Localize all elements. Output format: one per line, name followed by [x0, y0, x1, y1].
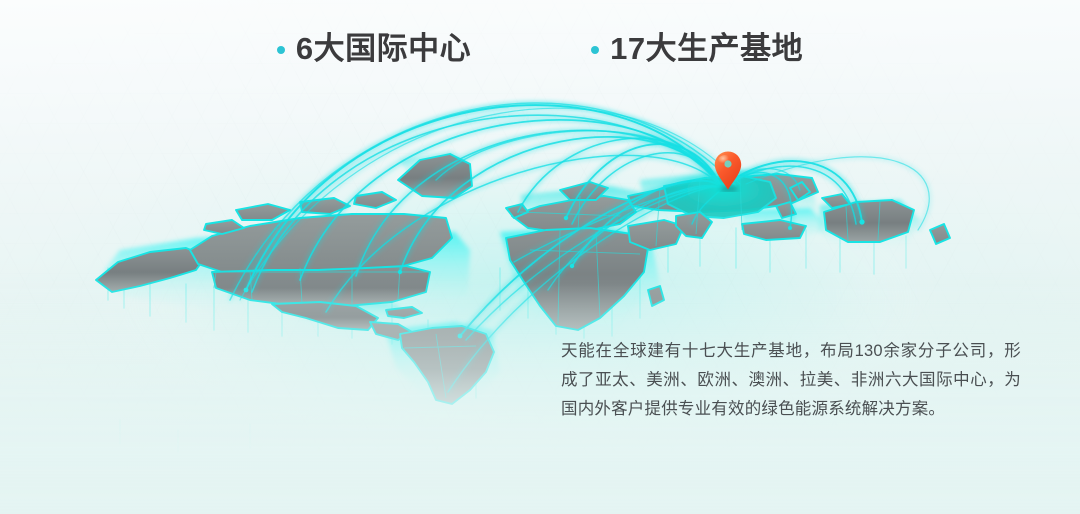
landmass-middle-east: [628, 220, 684, 250]
hexagon-texture: [0, 0, 1080, 514]
network-nodes: [244, 216, 865, 339]
arc-china-to-midwest: [356, 130, 722, 276]
landmass-arctic-isles-2: [300, 198, 350, 214]
infographic-slide: 6大国际中心 17大生产基地 天能在全球建有十七大生产基地，布局130余家分子公…: [0, 0, 1080, 514]
landmass-australia: [824, 200, 914, 242]
arc-china-to-east-usa: [400, 137, 722, 272]
landmass-arctic-isles-1: [236, 204, 290, 220]
heading-production-bases: 17大生产基地: [591, 33, 803, 64]
landmass-scandinavia: [560, 182, 608, 200]
landmass-greenland: [398, 154, 472, 198]
arc-china-to-canada: [300, 120, 722, 280]
arc-china-to-mexico: [326, 155, 722, 312]
arc-china-to-brazil-2: [466, 186, 722, 340]
arc-china-to-usa-2: [252, 115, 722, 292]
bullet-dot-icon: [591, 46, 599, 54]
arc-china-to-africa: [572, 180, 722, 266]
landmass-madagascar: [648, 286, 664, 306]
landmass-south-america: [400, 326, 494, 404]
arc-china-to-australia: [722, 161, 862, 222]
landmass-europe: [512, 196, 636, 232]
landmass-usa: [212, 266, 430, 306]
landmass-indonesia: [742, 220, 806, 240]
arc-china-to-west-africa: [514, 187, 722, 262]
landmass-alaska: [96, 248, 206, 292]
arc-china-to-europe: [566, 144, 722, 218]
landmass-png: [822, 194, 850, 208]
arc-china-to-brazil: [460, 181, 722, 336]
landmass-india: [676, 212, 712, 238]
hub-glow: [677, 170, 769, 210]
description-text: 天能在全球建有十七大生产基地，布局130余家分子公司，形成了亚太、美洲、欧洲、澳…: [561, 337, 1021, 424]
arc-china-to-usa: [246, 105, 722, 290]
heading-label: 6大国际中心: [296, 33, 471, 64]
landmass-central-america: [370, 322, 412, 340]
landmass-arctic-isles-3: [204, 220, 244, 234]
landmass-caribbean: [386, 307, 422, 318]
arc-china-to-greenland: [436, 131, 722, 188]
arc-china-to-africa-2: [548, 186, 722, 290]
world-map: [0, 0, 1080, 514]
arc-china-to-uk: [518, 138, 722, 212]
location-pin-icon: [713, 150, 743, 192]
world-map-svg: [0, 0, 1080, 514]
arc-china-to-japan: [722, 169, 800, 190]
arc-china-to-indonesia: [722, 173, 792, 228]
description-block: 天能在全球建有十七大生产基地，布局130余家分子公司，形成了亚太、美洲、欧洲、澳…: [561, 337, 1021, 424]
landmass-mexico: [272, 302, 378, 330]
headings-row: 6大国际中心 17大生产基地: [0, 22, 1080, 74]
arc-china-to-australia-2: [722, 166, 856, 224]
landmass-uk: [506, 204, 528, 218]
arc-china-to-india: [692, 188, 722, 224]
arc-china-to-europe-2: [572, 153, 722, 224]
landmass-canada: [190, 214, 452, 276]
landmass-new-zealand: [930, 224, 950, 244]
bullet-dot-icon: [277, 46, 285, 54]
arc-sweep-2: [240, 108, 740, 300]
landmass-arctic-isles-4: [354, 192, 396, 208]
arc-sweep-3: [746, 157, 929, 230]
arc-sweep-1: [230, 103, 736, 300]
landmass-africa: [506, 228, 648, 330]
landmass-russia: [628, 174, 818, 212]
heading-international-centers: 6大国际中心: [277, 33, 471, 64]
heading-label: 17大生产基地: [610, 33, 803, 64]
landmass-china-hub: [664, 176, 776, 218]
landmass-japan: [790, 182, 810, 200]
landmass-philippines: [776, 202, 796, 218]
